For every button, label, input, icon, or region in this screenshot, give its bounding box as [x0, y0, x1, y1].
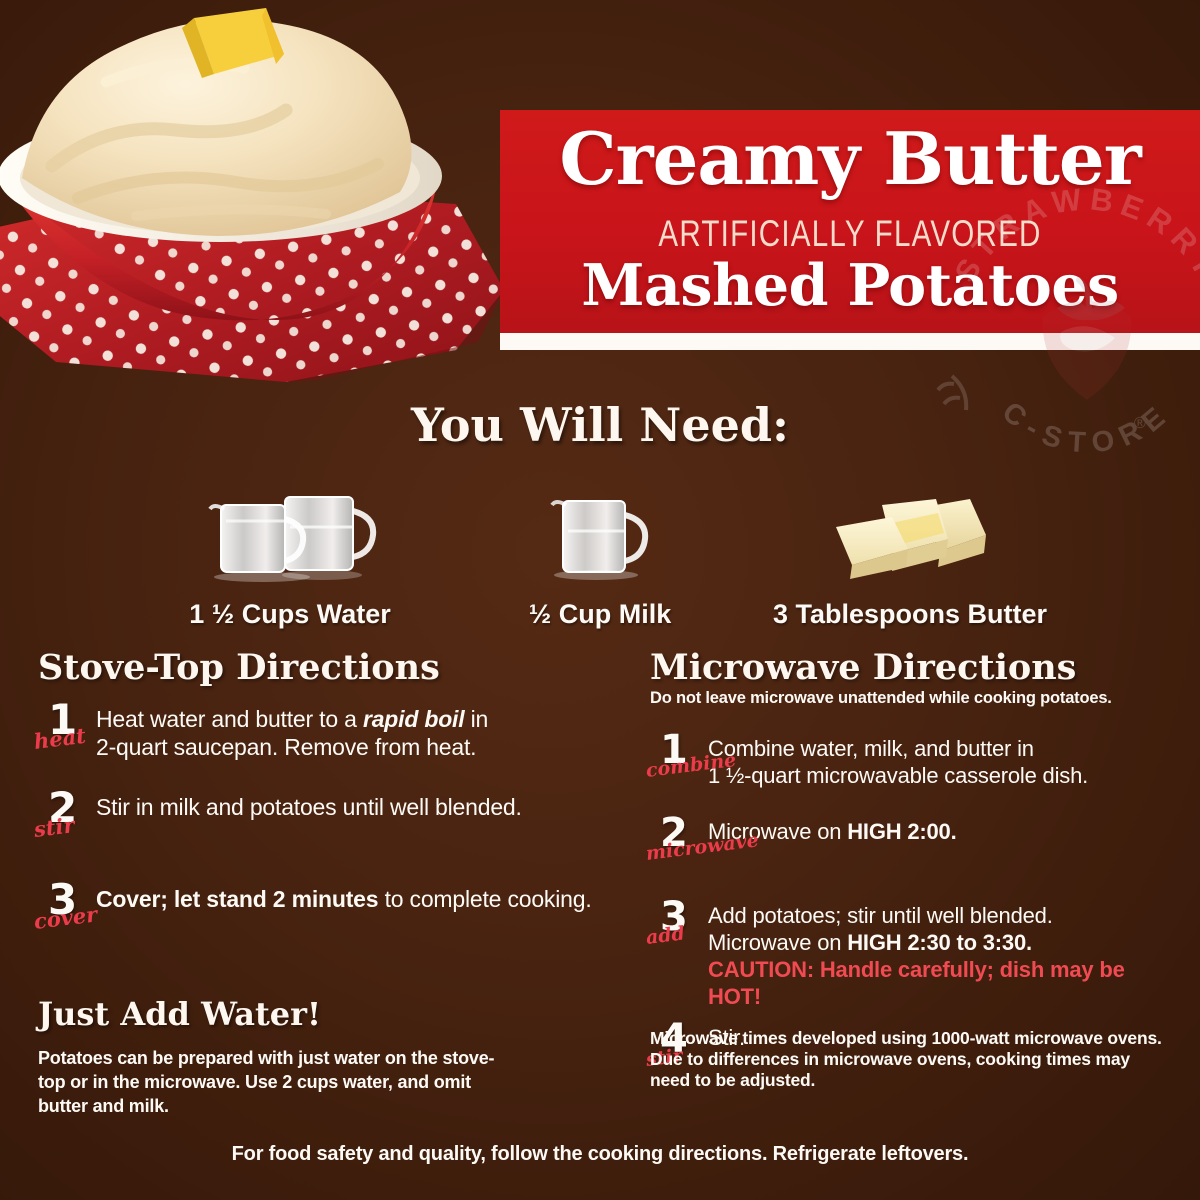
step-text: Heat water and butter to a rapid boil in… [96, 703, 628, 761]
microwave-title: Microwave Directions [650, 650, 1170, 687]
package-back-panel: Creamy Butter ARTIFICIALLY FLAVORED Mash… [0, 0, 1200, 1200]
step-text: Stir in milk and potatoes until well ble… [96, 791, 628, 821]
microwave-footnote: Microwave times developed using 1000-wat… [650, 1028, 1170, 1091]
banner-white-strip [500, 333, 1200, 350]
brand-name-line1: Creamy Butter [500, 116, 1200, 201]
stovetop-step-1: 1 heat Heat water and butter to a rapid … [38, 703, 628, 761]
brand-banner: Creamy Butter ARTIFICIALLY FLAVORED Mash… [500, 110, 1200, 333]
step-number-badge: 3 cover [38, 883, 96, 937]
stovetop-title: Stove-Top Directions [38, 650, 628, 687]
ingredient-milk-label: ½ Cup Milk [450, 599, 750, 630]
mashed-potatoes-photo [0, 0, 546, 390]
stovetop-directions-column: Stove-Top Directions 1 heat Heat water a… [38, 650, 628, 949]
two-measuring-cups-water-icon [140, 478, 440, 583]
step-number-badge: 2 microwave [650, 817, 708, 871]
stovetop-step-2: 2 stir Stir in milk and potatoes until w… [38, 791, 628, 845]
just-add-water-body: Potatoes can be prepared with just water… [38, 1047, 518, 1118]
microwave-directions-column: Microwave Directions Do not leave microw… [650, 650, 1170, 1089]
butter-pats-icon [760, 478, 1060, 583]
microwave-step-2: 2 microwave Microwave on HIGH 2:00. [650, 817, 1170, 871]
step-script-label: heat [32, 723, 87, 754]
ingredient-butter: 3 Tablespoons Butter [760, 478, 1060, 630]
step-script-label: cover [32, 901, 98, 934]
ingredient-butter-label: 3 Tablespoons Butter [760, 599, 1060, 630]
step-text: Combine water, milk, and butter in1 ½-qu… [708, 734, 1170, 790]
microwave-steps: 1 combine Combine water, milk, and butte… [650, 734, 1170, 1077]
microwave-warning-note: Do not leave microwave unattended while … [650, 689, 1170, 708]
ingredient-water-label: 1 ½ Cups Water [140, 599, 440, 630]
you-will-need-title: You Will Need: [0, 398, 1200, 452]
microwave-step-3: 3 add Add potatoes; stir until well blen… [650, 901, 1170, 1010]
ingredient-milk: ½ Cup Milk [450, 478, 750, 630]
step-number-badge: 1 combine [650, 734, 708, 788]
ingredient-water: 1 ½ Cups Water [140, 478, 440, 630]
step-text: Add potatoes; stir until well blended.Mi… [708, 901, 1170, 1010]
step-number-badge: 1 heat [38, 703, 96, 757]
microwave-step-1: 1 combine Combine water, milk, and butte… [650, 734, 1170, 790]
stovetop-step-3: 3 cover Cover; let stand 2 minutes to co… [38, 883, 628, 937]
step-script-label: add [645, 923, 686, 950]
stovetop-steps: 1 heat Heat water and butter to a rapid … [38, 703, 628, 937]
just-add-water-title: Just Add Water! [38, 995, 518, 1033]
food-safety-footer: For food safety and quality, follow the … [0, 1143, 1200, 1166]
step-text: Microwave on HIGH 2:00. [708, 817, 1170, 846]
step-number-badge: 3 add [650, 901, 708, 955]
step-number-badge: 2 stir [38, 791, 96, 845]
step-text: Cover; let stand 2 minutes to complete c… [96, 883, 628, 913]
measuring-cup-milk-icon [450, 478, 750, 583]
step-script-label: stir [32, 812, 75, 842]
brand-subtitle: ARTIFICIALLY FLAVORED [570, 213, 1130, 255]
ingredients-list: 1 ½ Cups Water ½ Cup Milk [140, 460, 1060, 630]
just-add-water-section: Just Add Water! Potatoes can be prepared… [38, 995, 518, 1118]
brand-name-line2: Mashed Potatoes [500, 252, 1200, 319]
